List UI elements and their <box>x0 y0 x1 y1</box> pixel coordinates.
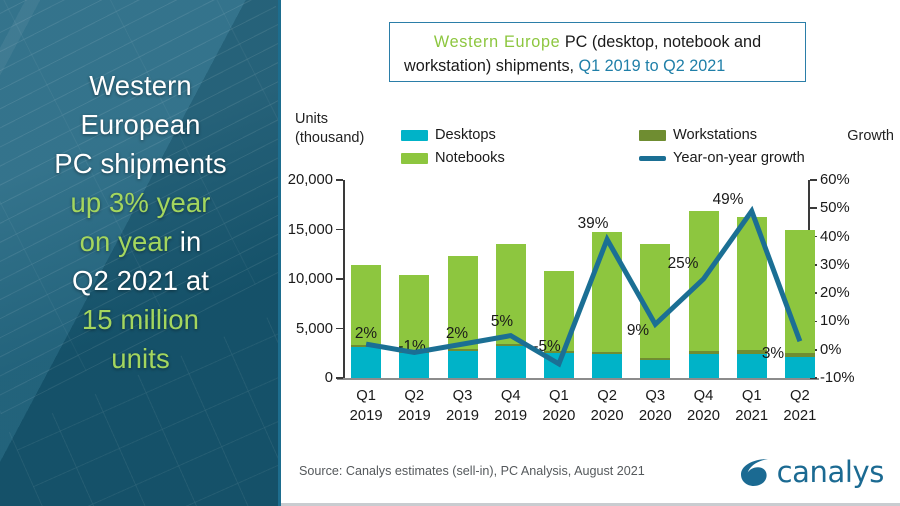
bar-segment-workstations <box>689 351 719 354</box>
bar-segment-desktops <box>351 347 381 378</box>
x-axis-year: 2020 <box>682 406 726 426</box>
bar-segment-desktops <box>496 346 526 378</box>
bar-segment-workstations <box>640 358 670 360</box>
y-axis-tick-label: 20,000 <box>288 172 333 188</box>
chart-bar[interactable] <box>448 180 478 378</box>
bar-segment-workstations <box>496 344 526 346</box>
x-axis-year: 2020 <box>633 406 677 426</box>
y-axis-title: Units (thousand) <box>295 110 364 148</box>
headline-line-5: on year <box>80 226 172 257</box>
chart-title-line2: workstation) shipments, <box>404 57 579 75</box>
chart-bar[interactable] <box>351 180 381 378</box>
bar-value-label: 25% <box>668 255 699 273</box>
legend-swatch-notebooks <box>401 153 428 164</box>
chart-title-region: Western Europe <box>434 33 560 51</box>
chart-bar[interactable] <box>496 180 526 378</box>
source-note: Source: Canalys estimates (sell-in), PC … <box>299 464 645 478</box>
bar-segment-desktops <box>785 357 815 378</box>
bar-value-label: 9% <box>627 322 649 340</box>
bar-value-label: 39% <box>578 215 609 233</box>
chart-title-middle: PC (desktop, notebook and <box>560 33 761 51</box>
bar-segment-desktops <box>689 354 719 378</box>
legend-swatch-workstations <box>639 130 666 141</box>
legend-swatch-desktops <box>401 130 428 141</box>
y-axis-tick <box>336 278 343 280</box>
bar-value-label: 49% <box>713 191 744 209</box>
bar-value-label: 2% <box>446 325 468 343</box>
x-axis-quarter: Q1 <box>537 386 581 406</box>
x-axis-label: Q22019 <box>392 386 436 426</box>
y-axis-tick-label: 10,000 <box>288 271 333 287</box>
headline-line-4: up 3% year <box>70 187 210 218</box>
y-axis-tick-label: 5,000 <box>296 321 333 337</box>
slide-root: Western European PC shipments up 3% year… <box>0 0 900 506</box>
bar-segment-desktops <box>448 351 478 378</box>
x-axis-year: 2020 <box>585 406 629 426</box>
x-axis-quarter: Q1 <box>730 386 774 406</box>
bar-segment-desktops <box>640 360 670 378</box>
x-axis-quarter: Q2 <box>778 386 822 406</box>
legend-item-notebooks[interactable]: Notebooks <box>401 150 505 166</box>
bar-value-label: -1% <box>398 338 425 356</box>
y-axis-tick <box>336 179 343 181</box>
y-axis-tick <box>336 328 343 330</box>
x-axis-year: 2019 <box>392 406 436 426</box>
x-axis-label: Q12020 <box>537 386 581 426</box>
x-axis-label: Q12019 <box>344 386 388 426</box>
x-axis-year: 2019 <box>344 406 388 426</box>
y-axis-tick <box>336 229 343 231</box>
bar-segment-workstations <box>448 349 478 351</box>
y2-axis-title: Growth <box>847 128 894 144</box>
headline-line-5-suffix: in <box>172 226 201 257</box>
chart-bar[interactable] <box>785 180 815 378</box>
bar-segment-workstations <box>785 353 815 356</box>
y-axis-tick-label: 15,000 <box>288 222 333 238</box>
legend-line-growth <box>639 156 666 161</box>
bar-segment-notebooks <box>640 244 670 357</box>
x-axis-year: 2021 <box>778 406 822 426</box>
x-axis-label: Q42020 <box>682 386 726 426</box>
chart-title-period: Q1 2019 to Q2 2021 <box>579 57 726 75</box>
x-axis-label: Q22021 <box>778 386 822 426</box>
chart-panel: Western Europe PC (desktop, notebook and… <box>281 0 900 506</box>
legend-item-workstations[interactable]: Workstations <box>639 127 757 143</box>
x-axis-year: 2019 <box>441 406 485 426</box>
bar-value-label: 3% <box>762 345 784 363</box>
bar-segment-notebooks <box>592 232 622 351</box>
bar-value-label: 2% <box>355 325 377 343</box>
bar-segment-notebooks <box>737 217 767 350</box>
left-headline-panel: Western European PC shipments up 3% year… <box>0 0 281 506</box>
chart-bar[interactable] <box>592 180 622 378</box>
bar-segment-notebooks <box>689 211 719 351</box>
bar-value-label: 5% <box>491 313 513 331</box>
x-axis-quarter: Q2 <box>392 386 436 406</box>
legend-label-desktops: Desktops <box>435 127 496 143</box>
x-axis-label: Q32019 <box>441 386 485 426</box>
headline-line-6: Q2 2021 at <box>72 265 209 296</box>
y-axis-tick-label: 0 <box>325 370 333 386</box>
headline-line-7: 15 million <box>82 304 199 335</box>
canalys-logo: canalys <box>738 455 884 489</box>
bar-segment-desktops <box>592 354 622 378</box>
headline-line-1: Western <box>89 70 192 101</box>
chart-legend: Desktops Notebooks Workstations Year-on-… <box>401 126 831 170</box>
x-axis-quarter: Q4 <box>489 386 533 406</box>
x-axis-quarter: Q3 <box>441 386 485 406</box>
legend-label-notebooks: Notebooks <box>435 150 505 166</box>
canalys-wordmark: canalys <box>777 455 884 489</box>
x-axis-label: Q22020 <box>585 386 629 426</box>
x-axis-year: 2020 <box>537 406 581 426</box>
bar-segment-desktops <box>399 353 429 378</box>
y-axis-tick <box>336 377 343 379</box>
x-axis-labels: Q12019Q22019Q32019Q42019Q12020Q22020Q320… <box>337 386 819 432</box>
x-axis-label: Q42019 <box>489 386 533 426</box>
x-axis-line <box>337 378 819 380</box>
legend-item-growth[interactable]: Year-on-year growth <box>639 150 805 166</box>
chart-title-box: Western Europe PC (desktop, notebook and… <box>389 22 806 82</box>
bar-segment-desktops <box>544 353 574 378</box>
x-axis-quarter: Q2 <box>585 386 629 406</box>
bar-segment-workstations <box>351 345 381 347</box>
headline-text: Western European PC shipments up 3% year… <box>0 66 281 378</box>
legend-label-workstations: Workstations <box>673 127 757 143</box>
bar-value-label: -5% <box>533 338 560 356</box>
legend-label-growth: Year-on-year growth <box>673 150 805 166</box>
legend-item-desktops[interactable]: Desktops <box>401 127 496 143</box>
x-axis-label: Q12021 <box>730 386 774 426</box>
x-axis-year: 2019 <box>489 406 533 426</box>
bar-segment-workstations <box>592 352 622 354</box>
chart-bar[interactable] <box>689 180 719 378</box>
headline-line-3: PC shipments <box>54 148 226 179</box>
x-axis-quarter: Q1 <box>344 386 388 406</box>
headline-line-8: units <box>111 343 170 374</box>
x-axis-label: Q32020 <box>633 386 677 426</box>
x-axis-quarter: Q4 <box>682 386 726 406</box>
x-axis-quarter: Q3 <box>633 386 677 406</box>
x-axis-year: 2021 <box>730 406 774 426</box>
headline-line-2: European <box>80 109 200 140</box>
chart-bar[interactable] <box>640 180 670 378</box>
canalys-swoosh-icon <box>738 457 772 487</box>
bar-segment-notebooks <box>785 230 815 354</box>
